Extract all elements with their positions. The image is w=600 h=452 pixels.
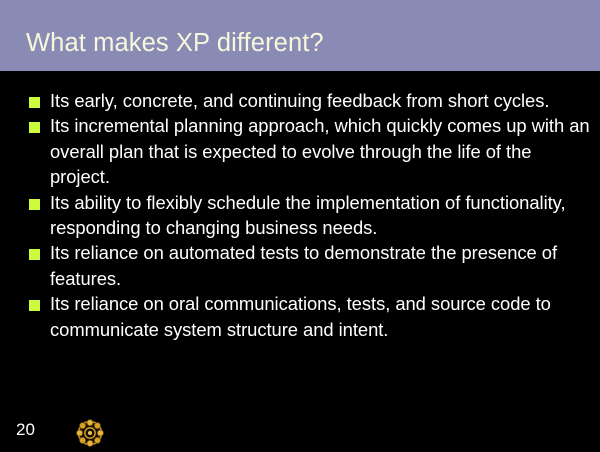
square-bullet-icon: [29, 249, 40, 260]
bullet-item: Its ability to flexibly schedule the imp…: [0, 190, 600, 241]
square-bullet-icon: [29, 122, 40, 133]
square-bullet-icon: [29, 199, 40, 210]
bullet-text: Its incremental planning approach, which…: [50, 113, 600, 189]
square-bullet-icon: [29, 97, 40, 108]
page-number: 20: [16, 420, 35, 440]
bullet-item: Its incremental planning approach, which…: [0, 113, 600, 189]
ornamental-circle-logo-icon: [76, 419, 104, 447]
bullet-item: Its early, concrete, and continuing feed…: [0, 88, 600, 113]
slide-title: What makes XP different?: [26, 28, 324, 58]
bullet-text: Its reliance on oral communications, tes…: [50, 291, 600, 342]
slide-bullet-list: Its early, concrete, and continuing feed…: [0, 88, 600, 342]
bullet-text: Its ability to flexibly schedule the imp…: [50, 190, 600, 241]
bullet-text: Its early, concrete, and continuing feed…: [50, 88, 600, 113]
bullet-item: Its reliance on automated tests to demon…: [0, 240, 600, 291]
bullet-item: Its reliance on oral communications, tes…: [0, 291, 600, 342]
bullet-text: Its reliance on automated tests to demon…: [50, 240, 600, 291]
square-bullet-icon: [29, 300, 40, 311]
presentation-slide: What makes XP different? Its early, conc…: [0, 0, 600, 450]
slide-title-band: What makes XP different?: [0, 0, 600, 71]
